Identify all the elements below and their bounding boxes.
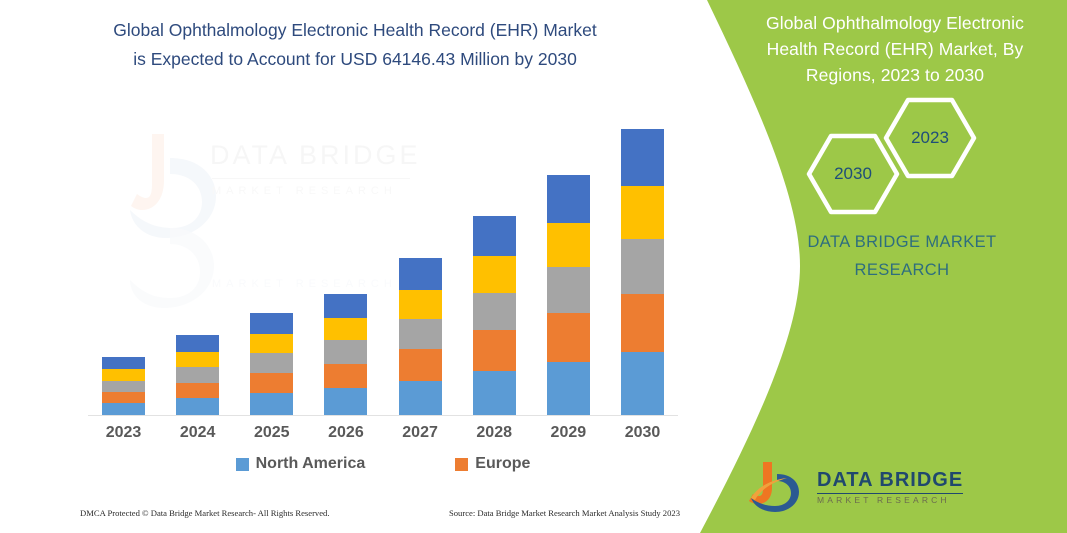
x-axis-labels: 20232024202520262027202820292030 xyxy=(88,424,678,442)
bar-column xyxy=(244,313,299,415)
stacked-bar-2027 xyxy=(399,258,442,415)
bar-column xyxy=(467,216,522,415)
bar-segment xyxy=(621,129,664,186)
footer: DMCA Protected © Data Bridge Market Rese… xyxy=(80,508,680,518)
bar-segment xyxy=(547,267,590,313)
hexagon-badges: 2030 2023 xyxy=(737,96,1067,206)
x-axis-label-2030: 2030 xyxy=(615,424,670,442)
bar-segment xyxy=(250,393,293,415)
legend-swatch-icon xyxy=(455,458,468,471)
bar-segment xyxy=(547,223,590,268)
bar-segment xyxy=(473,256,516,293)
bar-column xyxy=(170,335,225,415)
stacked-bar-2023 xyxy=(102,357,145,415)
bar-segment xyxy=(473,293,516,331)
logo-word-sub: MARKET RESEARCH xyxy=(817,495,963,505)
bar-segment xyxy=(621,239,664,294)
bar-segment xyxy=(102,392,145,403)
green-panel-content: Global Ophthalmology Electronic Health R… xyxy=(737,0,1067,533)
legend-label: North America xyxy=(256,455,366,473)
bar-segment xyxy=(399,349,442,380)
bar-column xyxy=(541,175,596,415)
bar-segment xyxy=(547,313,590,362)
stacked-bar-chart xyxy=(88,120,678,420)
x-axis-label-2024: 2024 xyxy=(170,424,225,442)
bar-segment xyxy=(399,258,442,290)
logo-word-main: DATA BRIDGE xyxy=(817,469,963,494)
data-bridge-logo-words: DATA BRIDGE MARKET RESEARCH xyxy=(817,469,963,505)
bar-segment xyxy=(547,362,590,415)
bar-segment xyxy=(324,388,367,415)
stacked-bar-2029 xyxy=(547,175,590,415)
stacked-bar-2028 xyxy=(473,216,516,415)
panel-brand-line1: DATA BRIDGE MARKET xyxy=(757,228,1047,256)
bar-segment xyxy=(250,353,293,373)
bar-segment xyxy=(473,216,516,256)
bar-segment xyxy=(324,340,367,363)
bar-segment xyxy=(399,290,442,319)
bar-segment xyxy=(102,357,145,369)
chart-bars xyxy=(88,120,678,415)
bar-column xyxy=(318,294,373,415)
x-axis-label-2025: 2025 xyxy=(244,424,299,442)
bar-segment xyxy=(473,371,516,416)
bar-segment xyxy=(621,186,664,239)
stacked-bar-2026 xyxy=(324,294,367,415)
x-axis-line xyxy=(88,415,678,416)
bar-segment xyxy=(102,381,145,392)
bar-segment xyxy=(621,294,664,352)
x-axis-label-2028: 2028 xyxy=(467,424,522,442)
hex-badge-2030-label: 2030 xyxy=(834,164,872,184)
bar-segment xyxy=(102,403,145,415)
bar-segment xyxy=(176,367,219,383)
bar-segment xyxy=(250,373,293,393)
stacked-bar-2024 xyxy=(176,335,219,415)
data-bridge-b-logo-icon xyxy=(747,458,809,516)
chart-title: Global Ophthalmology Electronic Health R… xyxy=(60,16,650,74)
panel-title: Global Ophthalmology Electronic Health R… xyxy=(745,10,1045,88)
bar-segment xyxy=(250,313,293,334)
bar-segment xyxy=(547,175,590,223)
bar-segment xyxy=(324,364,367,388)
x-axis-label-2026: 2026 xyxy=(318,424,373,442)
hex-badge-2023-label: 2023 xyxy=(911,128,949,148)
bar-segment xyxy=(176,398,219,415)
legend-item[interactable]: North America xyxy=(236,455,366,473)
legend-item[interactable]: Europe xyxy=(455,455,530,473)
panel-brand-name: DATA BRIDGE MARKET RESEARCH xyxy=(757,228,1047,284)
legend-swatch-icon xyxy=(236,458,249,471)
bar-segment xyxy=(176,352,219,368)
footer-copyright: DMCA Protected © Data Bridge Market Rese… xyxy=(80,508,330,518)
x-axis-label-2029: 2029 xyxy=(541,424,596,442)
legend-label: Europe xyxy=(475,455,530,473)
bar-segment xyxy=(176,335,219,352)
bar-segment xyxy=(399,381,442,415)
bar-column xyxy=(615,129,670,415)
bar-segment xyxy=(621,352,664,415)
bar-segment xyxy=(473,330,516,370)
bar-column xyxy=(393,258,448,415)
chart-legend: North AmericaEurope xyxy=(88,455,678,473)
chart-title-line2: is Expected to Account for USD 64146.43 … xyxy=(60,45,650,74)
hex-badge-2023: 2023 xyxy=(882,96,978,180)
x-axis-label-2023: 2023 xyxy=(96,424,151,442)
bar-column xyxy=(96,357,151,415)
bar-segment xyxy=(324,318,367,340)
x-axis-label-2027: 2027 xyxy=(393,424,448,442)
bar-segment xyxy=(324,294,367,318)
bar-segment xyxy=(176,383,219,399)
panel-brand-line2: RESEARCH xyxy=(757,256,1047,284)
footer-source: Source: Data Bridge Market Research Mark… xyxy=(449,508,680,518)
bar-segment xyxy=(102,369,145,380)
stacked-bar-2030 xyxy=(621,129,664,415)
stacked-bar-2025 xyxy=(250,313,293,415)
chart-title-line1: Global Ophthalmology Electronic Health R… xyxy=(60,16,650,45)
bar-segment xyxy=(399,319,442,349)
data-bridge-logo: DATA BRIDGE MARKET RESEARCH xyxy=(747,455,1047,519)
bar-segment xyxy=(250,334,293,353)
infographic-canvas: Global Ophthalmology Electronic Health R… xyxy=(0,0,1067,533)
